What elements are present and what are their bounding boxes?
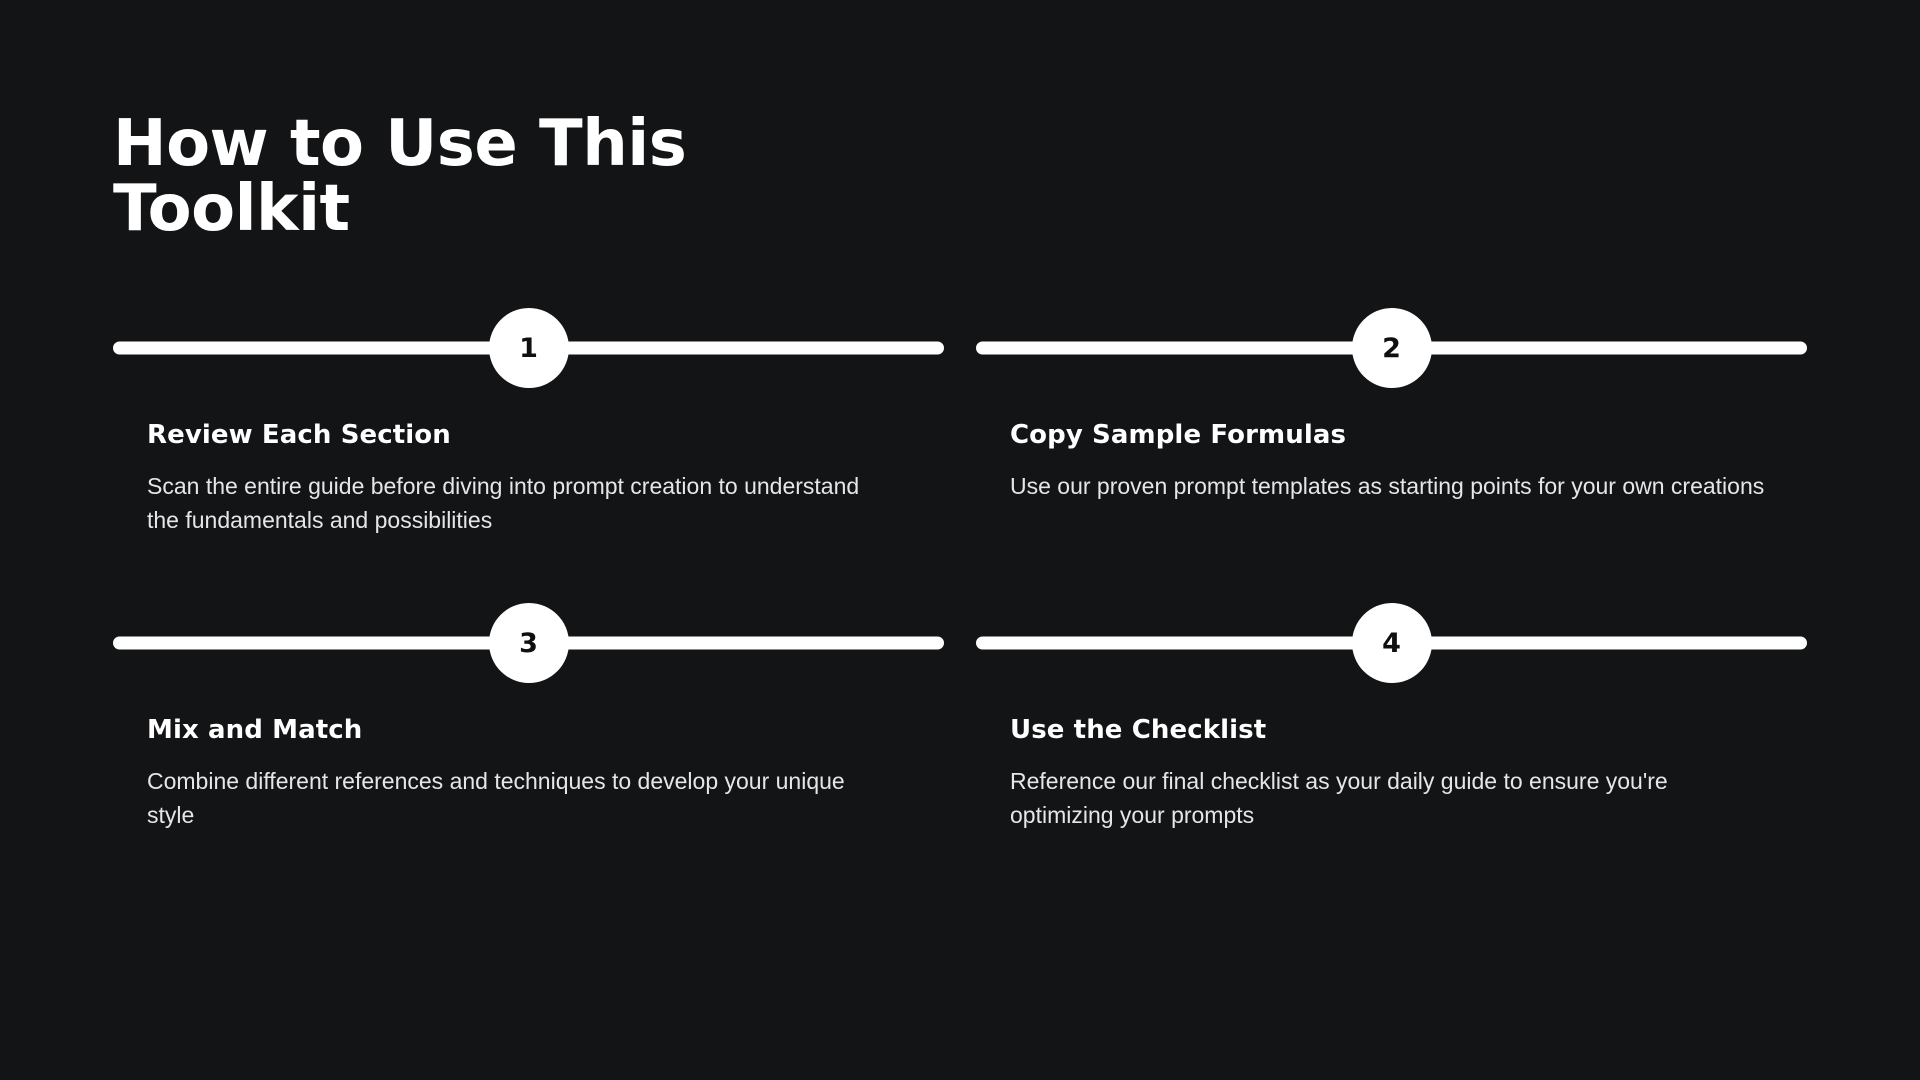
step-rail-1: 1 <box>113 308 944 388</box>
step-title: Review Each Section <box>147 420 913 451</box>
step-body-2: Copy Sample Formulas Use our proven prom… <box>976 388 1776 503</box>
step-item-3: 3 Mix and Match Combine different refere… <box>113 603 944 832</box>
step-marker-3: 3 <box>489 603 569 683</box>
step-marker-2: 2 <box>1352 308 1432 388</box>
step-number-label: 3 <box>519 630 538 657</box>
step-description: Combine different references and techniq… <box>147 764 877 832</box>
step-number-label: 4 <box>1382 630 1401 657</box>
title-block: How to Use This Toolkit <box>113 112 833 243</box>
step-marker-1: 1 <box>489 308 569 388</box>
step-marker-4: 4 <box>1352 603 1432 683</box>
steps-grid: 1 Review Each Section Scan the entire gu… <box>113 308 1807 833</box>
page-title: How to Use This Toolkit <box>113 112 833 243</box>
step-item-1: 1 Review Each Section Scan the entire gu… <box>113 308 944 537</box>
step-number-label: 1 <box>519 335 538 362</box>
step-rail-4: 4 <box>976 603 1807 683</box>
step-item-2: 2 Copy Sample Formulas Use our proven pr… <box>976 308 1807 537</box>
step-title: Use the Checklist <box>1010 715 1776 746</box>
step-body-1: Review Each Section Scan the entire guid… <box>113 388 913 537</box>
step-item-4: 4 Use the Checklist Reference our final … <box>976 603 1807 832</box>
slide-root: How to Use This Toolkit 1 Review Each Se… <box>0 0 1920 1080</box>
step-rail-2: 2 <box>976 308 1807 388</box>
step-rail-3: 3 <box>113 603 944 683</box>
step-body-4: Use the Checklist Reference our final ch… <box>976 683 1776 832</box>
step-number-label: 2 <box>1382 335 1401 362</box>
step-description: Use our proven prompt templates as start… <box>1010 469 1776 503</box>
step-description: Scan the entire guide before diving into… <box>147 469 877 537</box>
step-title: Mix and Match <box>147 715 913 746</box>
step-description: Reference our final checklist as your da… <box>1010 764 1776 832</box>
step-title: Copy Sample Formulas <box>1010 420 1776 451</box>
step-body-3: Mix and Match Combine different referenc… <box>113 683 913 832</box>
